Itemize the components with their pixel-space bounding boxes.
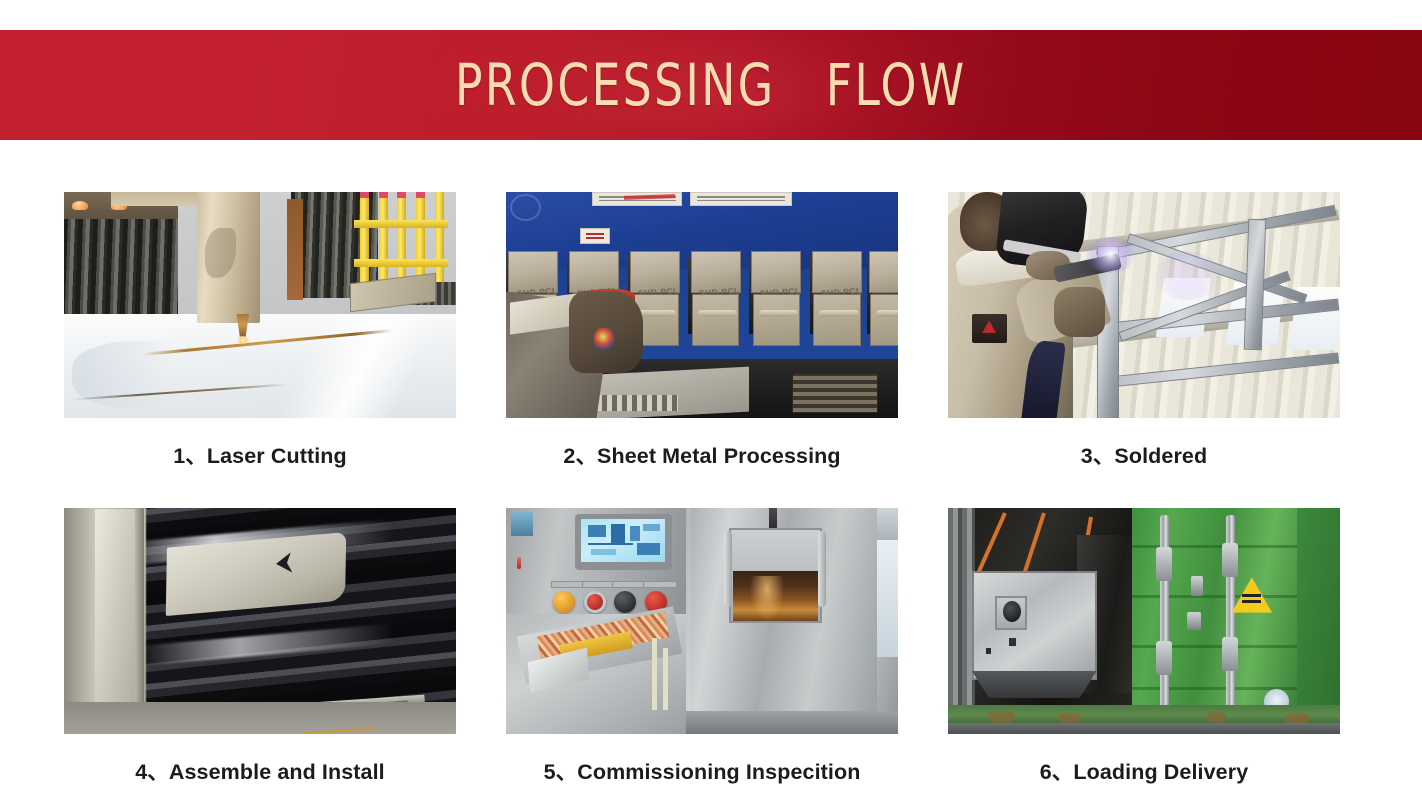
selector-switch[interactable] (614, 591, 636, 613)
process-step-6: 6、Loading Delivery (948, 508, 1340, 806)
step-2-caption: 2、Sheet Metal Processing (506, 418, 898, 490)
button-label-plate (643, 581, 677, 588)
door-locking-rod[interactable] (1160, 515, 1169, 718)
process-step-2: SHD-PCL SHD-PCL SHD-PCL (506, 192, 898, 490)
button-label-plate (582, 581, 616, 588)
machine-door (287, 199, 303, 301)
process-step-5: 5、Commissioning Inspecition (506, 508, 898, 806)
process-step-4: 4、Assemble and Install (64, 508, 456, 806)
step-6-caption: 6、Loading Delivery (948, 734, 1340, 806)
container-door[interactable] (1132, 508, 1297, 716)
button-label-plate (551, 581, 585, 588)
photo-soldered-welding (948, 192, 1340, 418)
oven-handle[interactable] (818, 531, 826, 608)
oven-interior-glow (750, 576, 784, 621)
tool-holder: SHD-PCL (810, 251, 870, 346)
process-step-3: 3、Soldered (948, 192, 1340, 490)
emergency-stop-button[interactable] (584, 591, 606, 613)
welder-glove (1054, 287, 1105, 337)
pneumatic-tube (663, 648, 668, 710)
photo-loading-delivery (948, 508, 1340, 734)
conveyor-photo (506, 614, 686, 734)
workshop-floor (64, 702, 456, 734)
door-latch[interactable] (1187, 612, 1201, 630)
machine-label-plate (690, 192, 792, 206)
amber-push-button[interactable] (553, 591, 575, 613)
door-locking-rod[interactable] (1226, 515, 1235, 718)
oven-photo-panel (686, 508, 898, 734)
rack-post (135, 508, 145, 716)
machine-base-skirt (972, 671, 1097, 698)
control-panel-photo (506, 508, 686, 614)
container-door-right-leaf[interactable] (1297, 508, 1340, 716)
door-latch[interactable] (1191, 576, 1203, 596)
shrink-wrap-edge (64, 508, 95, 705)
die-stack (792, 373, 878, 414)
oven-handle[interactable] (724, 531, 732, 608)
hmi-screen-graphic (581, 519, 665, 562)
glove-patch (594, 328, 614, 351)
photo-sheet-metal-processing: SHD-PCL SHD-PCL SHD-PCL (506, 192, 898, 418)
process-steps-grid: 1、Laser Cutting SHD-PCL SHD-PCL (64, 192, 1358, 806)
warning-sticker (580, 228, 609, 244)
ground-surface (948, 723, 1340, 734)
tool-holder (867, 251, 898, 346)
indicator-lamp-icon (72, 201, 88, 210)
laser-spark (236, 336, 250, 344)
machine-plate (1009, 638, 1016, 646)
hmi-touchscreen[interactable] (575, 514, 672, 569)
step-5-caption: 5、Commissioning Inspecition (506, 734, 898, 806)
page-header-banner: PROCESSING FLOW (0, 30, 1422, 140)
page-title: PROCESSING FLOW (455, 51, 966, 119)
step-3-caption: 3、Soldered (948, 418, 1340, 490)
step-1-caption: 1、Laser Cutting (64, 418, 456, 490)
side-display (511, 512, 533, 535)
tool-holder: SHD-PCL (688, 251, 748, 346)
status-led-icon (517, 557, 522, 569)
tool-holder: SHD-PCL (749, 251, 809, 346)
photo-commissioning-inspection (506, 508, 898, 734)
jacket-badge (972, 314, 1007, 343)
sheet-reflection (280, 314, 456, 418)
stainless-machine-cargo (972, 571, 1097, 679)
process-step-1: 1、Laser Cutting (64, 192, 456, 490)
pneumatic-tube (652, 638, 657, 710)
button-label-plate (612, 581, 646, 588)
step-4-caption: 4、Assemble and Install (64, 734, 456, 806)
photo-laser-cutting (64, 192, 456, 418)
machine-fitting (986, 648, 991, 653)
photo-assemble-and-install (64, 508, 456, 734)
oven-base (686, 711, 898, 734)
machine-view-window (1003, 601, 1021, 622)
